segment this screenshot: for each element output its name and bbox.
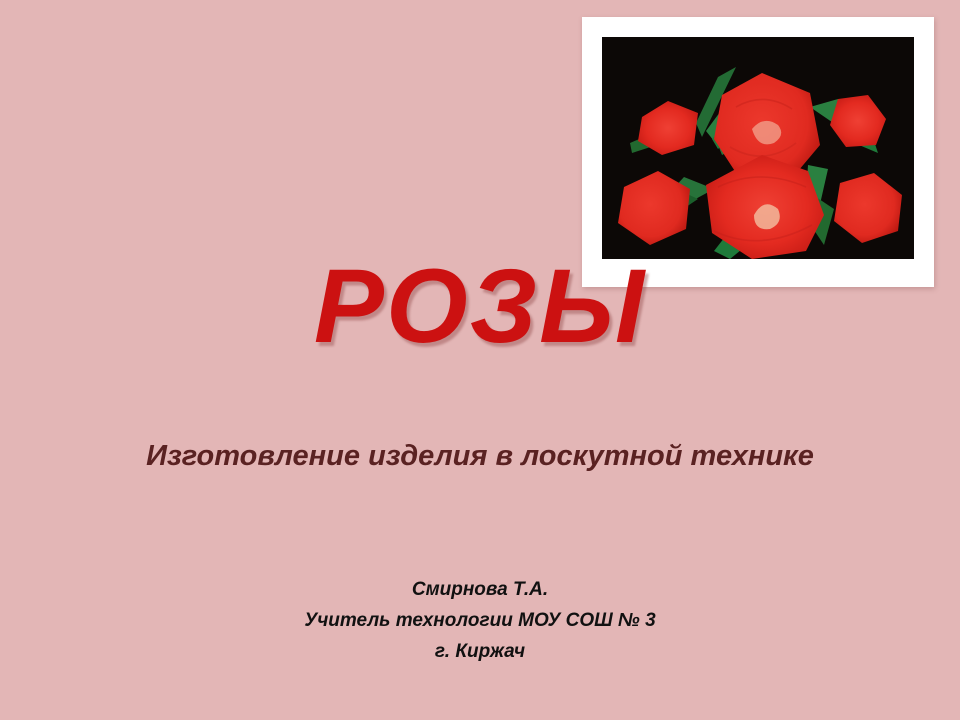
author-block: Смирнова Т.А. Учитель технологии МОУ СОШ… <box>0 574 960 667</box>
roses-illustration <box>602 37 914 259</box>
slide-subtitle: Изготовление изделия в лоскутной технике <box>0 440 960 473</box>
author-position: Учитель технологии МОУ СОШ № 3 <box>0 605 960 636</box>
photo-frame <box>582 17 934 287</box>
author-city: г. Киржач <box>0 636 960 667</box>
photo-image <box>602 37 914 259</box>
presentation-slide: РОЗЫ Изготовление изделия в лоскутной те… <box>0 0 960 720</box>
author-name: Смирнова Т.А. <box>0 574 960 605</box>
slide-title: РОЗЫ <box>0 252 960 362</box>
